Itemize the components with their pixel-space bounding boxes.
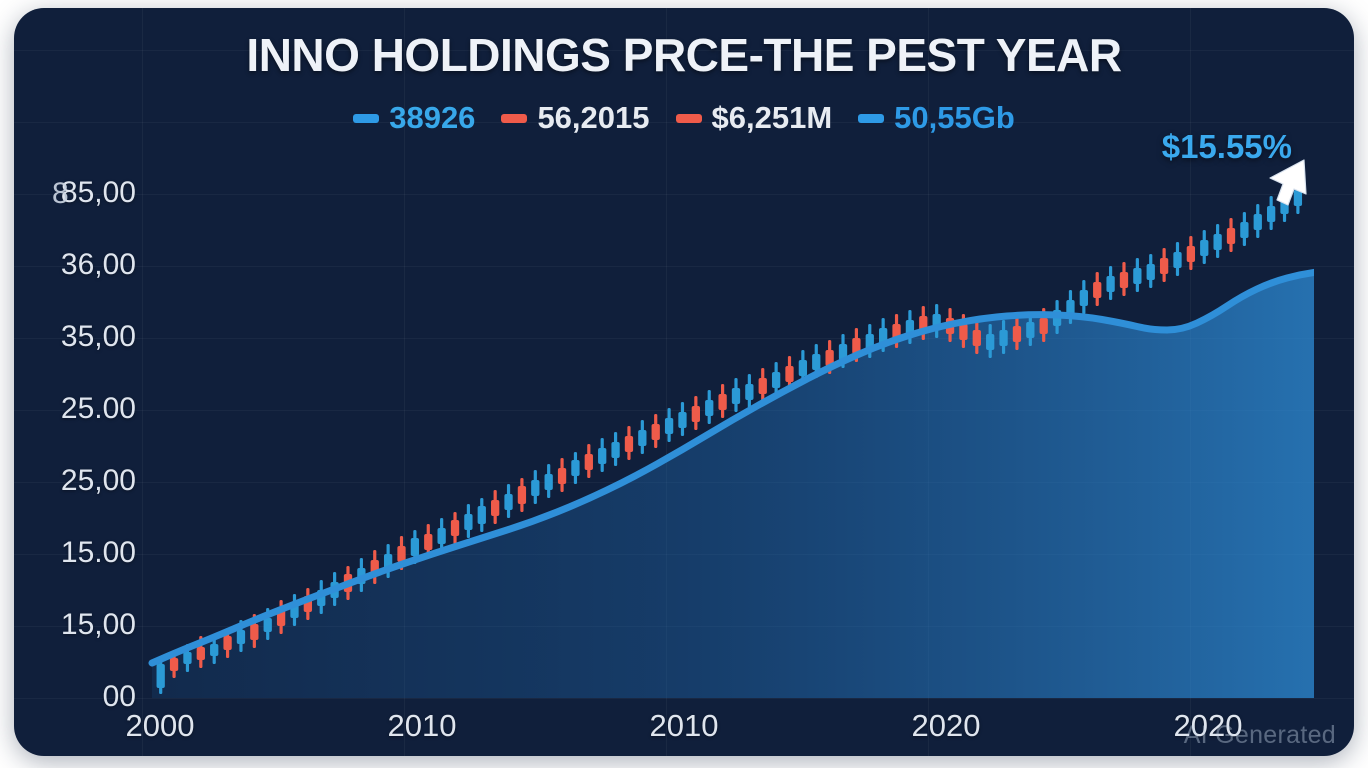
candle-body xyxy=(1133,268,1141,284)
candle-body xyxy=(625,436,633,452)
legend-item-3[interactable]: 50,55Gb xyxy=(858,100,1015,136)
candle-body xyxy=(1160,258,1168,274)
candle-body xyxy=(585,454,593,470)
legend-item-1[interactable]: 56,2015 xyxy=(501,100,649,136)
y-axis-overlap-glyph: 8 xyxy=(52,177,69,211)
candle-body xyxy=(518,486,526,504)
trend-area-fill xyxy=(152,270,1314,698)
candlestick-chart-svg xyxy=(142,158,1314,698)
candle-body xyxy=(1200,240,1208,256)
candle-body xyxy=(210,644,218,656)
candle-body xyxy=(1173,252,1181,268)
candle-body xyxy=(451,520,459,536)
candle-body xyxy=(745,384,753,400)
candle-body xyxy=(678,412,686,428)
candle-body xyxy=(170,658,178,671)
y-axis-tick-6: 15,00 xyxy=(61,608,136,642)
legend-item-2[interactable]: $6,251M xyxy=(676,100,833,136)
candle-body xyxy=(424,534,432,550)
candle-body xyxy=(504,494,512,510)
candle-body xyxy=(799,360,807,376)
candle-body xyxy=(772,372,780,388)
candle-body xyxy=(1040,318,1048,334)
candle-body xyxy=(237,630,245,644)
candle-body xyxy=(197,647,205,660)
candle-body xyxy=(223,636,231,650)
y-axis-tick-1: 36,00 xyxy=(61,248,136,282)
candle-body xyxy=(718,394,726,410)
candle-body xyxy=(558,468,566,484)
candle-body xyxy=(611,442,619,458)
candle-body xyxy=(531,480,539,496)
chart-legend: 38926 56,2015 $6,251M 50,55Gb xyxy=(14,100,1354,136)
candle-body xyxy=(397,546,405,562)
candle-body xyxy=(545,474,553,490)
candle-body xyxy=(759,378,767,394)
up-right-arrow-cursor-icon xyxy=(1264,156,1310,212)
legend-swatch-icon-3 xyxy=(858,114,884,123)
trend-area-path xyxy=(152,270,1314,698)
candle-body xyxy=(1147,264,1155,280)
candle-body xyxy=(1013,326,1021,342)
candle-body xyxy=(1254,214,1262,230)
legend-label-0: 38926 xyxy=(389,100,475,136)
screenshot-root: INNO HOLDINGS PRCE-THE PEST YEAR 38926 5… xyxy=(0,0,1368,768)
legend-swatch-icon-0 xyxy=(353,114,379,123)
candle-body xyxy=(986,334,994,350)
candle-body xyxy=(157,664,165,688)
candle-body xyxy=(705,400,713,416)
candle-body xyxy=(598,448,606,464)
legend-label-3: 50,55Gb xyxy=(894,100,1015,136)
x-axis-tick-0: 2000 xyxy=(126,708,195,744)
candle-body xyxy=(438,528,446,544)
candle-body xyxy=(1026,322,1034,338)
x-axis: 20002010201020202020 xyxy=(142,708,1314,754)
candle-body xyxy=(665,418,673,434)
candle-body xyxy=(491,500,499,516)
legend-label-1: 56,2015 xyxy=(537,100,649,136)
candle-body xyxy=(1106,276,1114,292)
candle-body xyxy=(732,388,740,404)
candle-body xyxy=(183,652,191,664)
candle-body xyxy=(571,460,579,476)
y-axis-tick-3: 25.00 xyxy=(61,392,136,426)
candle-body xyxy=(1093,282,1101,298)
candle-body xyxy=(652,424,660,440)
candle-body xyxy=(1240,222,1248,238)
legend-swatch-icon-1 xyxy=(501,114,527,123)
ai-generated-watermark: AI Generated xyxy=(1184,721,1336,750)
candle-body xyxy=(973,330,981,346)
legend-item-0[interactable]: 38926 xyxy=(353,100,475,136)
candle-body xyxy=(812,354,820,370)
legend-label-2: $6,251M xyxy=(712,100,833,136)
y-axis-tick-2: 35,00 xyxy=(61,320,136,354)
candle-body xyxy=(1187,246,1195,262)
candle-body xyxy=(478,506,486,524)
candle-body xyxy=(638,430,646,446)
candle-body xyxy=(999,330,1007,346)
candle-body xyxy=(411,538,419,556)
y-axis-tick-0: 85,00 xyxy=(61,176,136,210)
x-axis-tick-3: 2020 xyxy=(912,708,981,744)
x-axis-tick-2: 2010 xyxy=(650,708,719,744)
legend-swatch-icon-2 xyxy=(676,114,702,123)
candle-body xyxy=(464,514,472,530)
candle-body xyxy=(1227,228,1235,244)
y-axis-tick-5: 15.00 xyxy=(61,536,136,570)
candle-body xyxy=(959,324,967,340)
x-axis-tick-1: 2010 xyxy=(388,708,457,744)
candle-body xyxy=(264,618,272,632)
candle-body xyxy=(1080,290,1088,306)
candle-body xyxy=(1213,234,1221,250)
candle-body xyxy=(250,624,258,640)
y-axis-tick-4: 25,00 xyxy=(61,464,136,498)
candle-body xyxy=(785,366,793,382)
chart-card: INNO HOLDINGS PRCE-THE PEST YEAR 38926 5… xyxy=(14,8,1354,756)
candle-body xyxy=(1120,272,1128,288)
page-title: INNO HOLDINGS PRCE-THE PEST YEAR xyxy=(14,28,1354,82)
y-axis: 85,0036,0035,0025.0025,0015.0015,0000 xyxy=(30,158,136,698)
candle-body xyxy=(692,406,700,422)
plot-area xyxy=(142,158,1314,698)
